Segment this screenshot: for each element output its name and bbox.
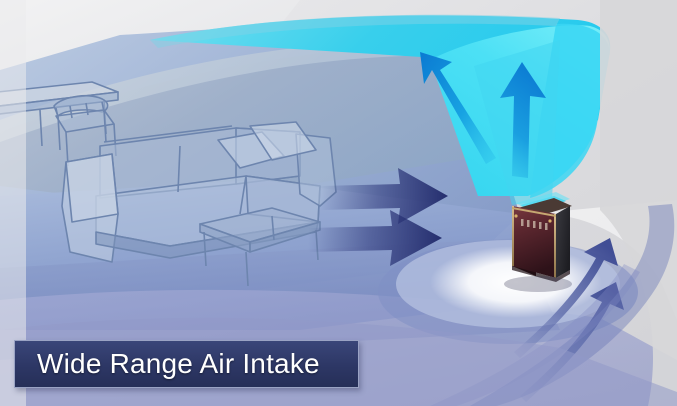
purifier-side <box>556 206 570 278</box>
purifier-status-led <box>548 219 551 222</box>
purifier-trim-right <box>554 214 556 278</box>
purifier-power-led <box>514 214 517 217</box>
purifier-front-panel-main <box>512 206 556 278</box>
purifier-cast-shadow <box>504 276 572 292</box>
caption-text: Wide Range Air Intake <box>37 350 320 378</box>
illustration-canvas: Wide Range Air Intake <box>0 0 677 406</box>
purifier-trim-left <box>512 206 514 266</box>
caption-banner: Wide Range Air Intake <box>14 340 359 388</box>
